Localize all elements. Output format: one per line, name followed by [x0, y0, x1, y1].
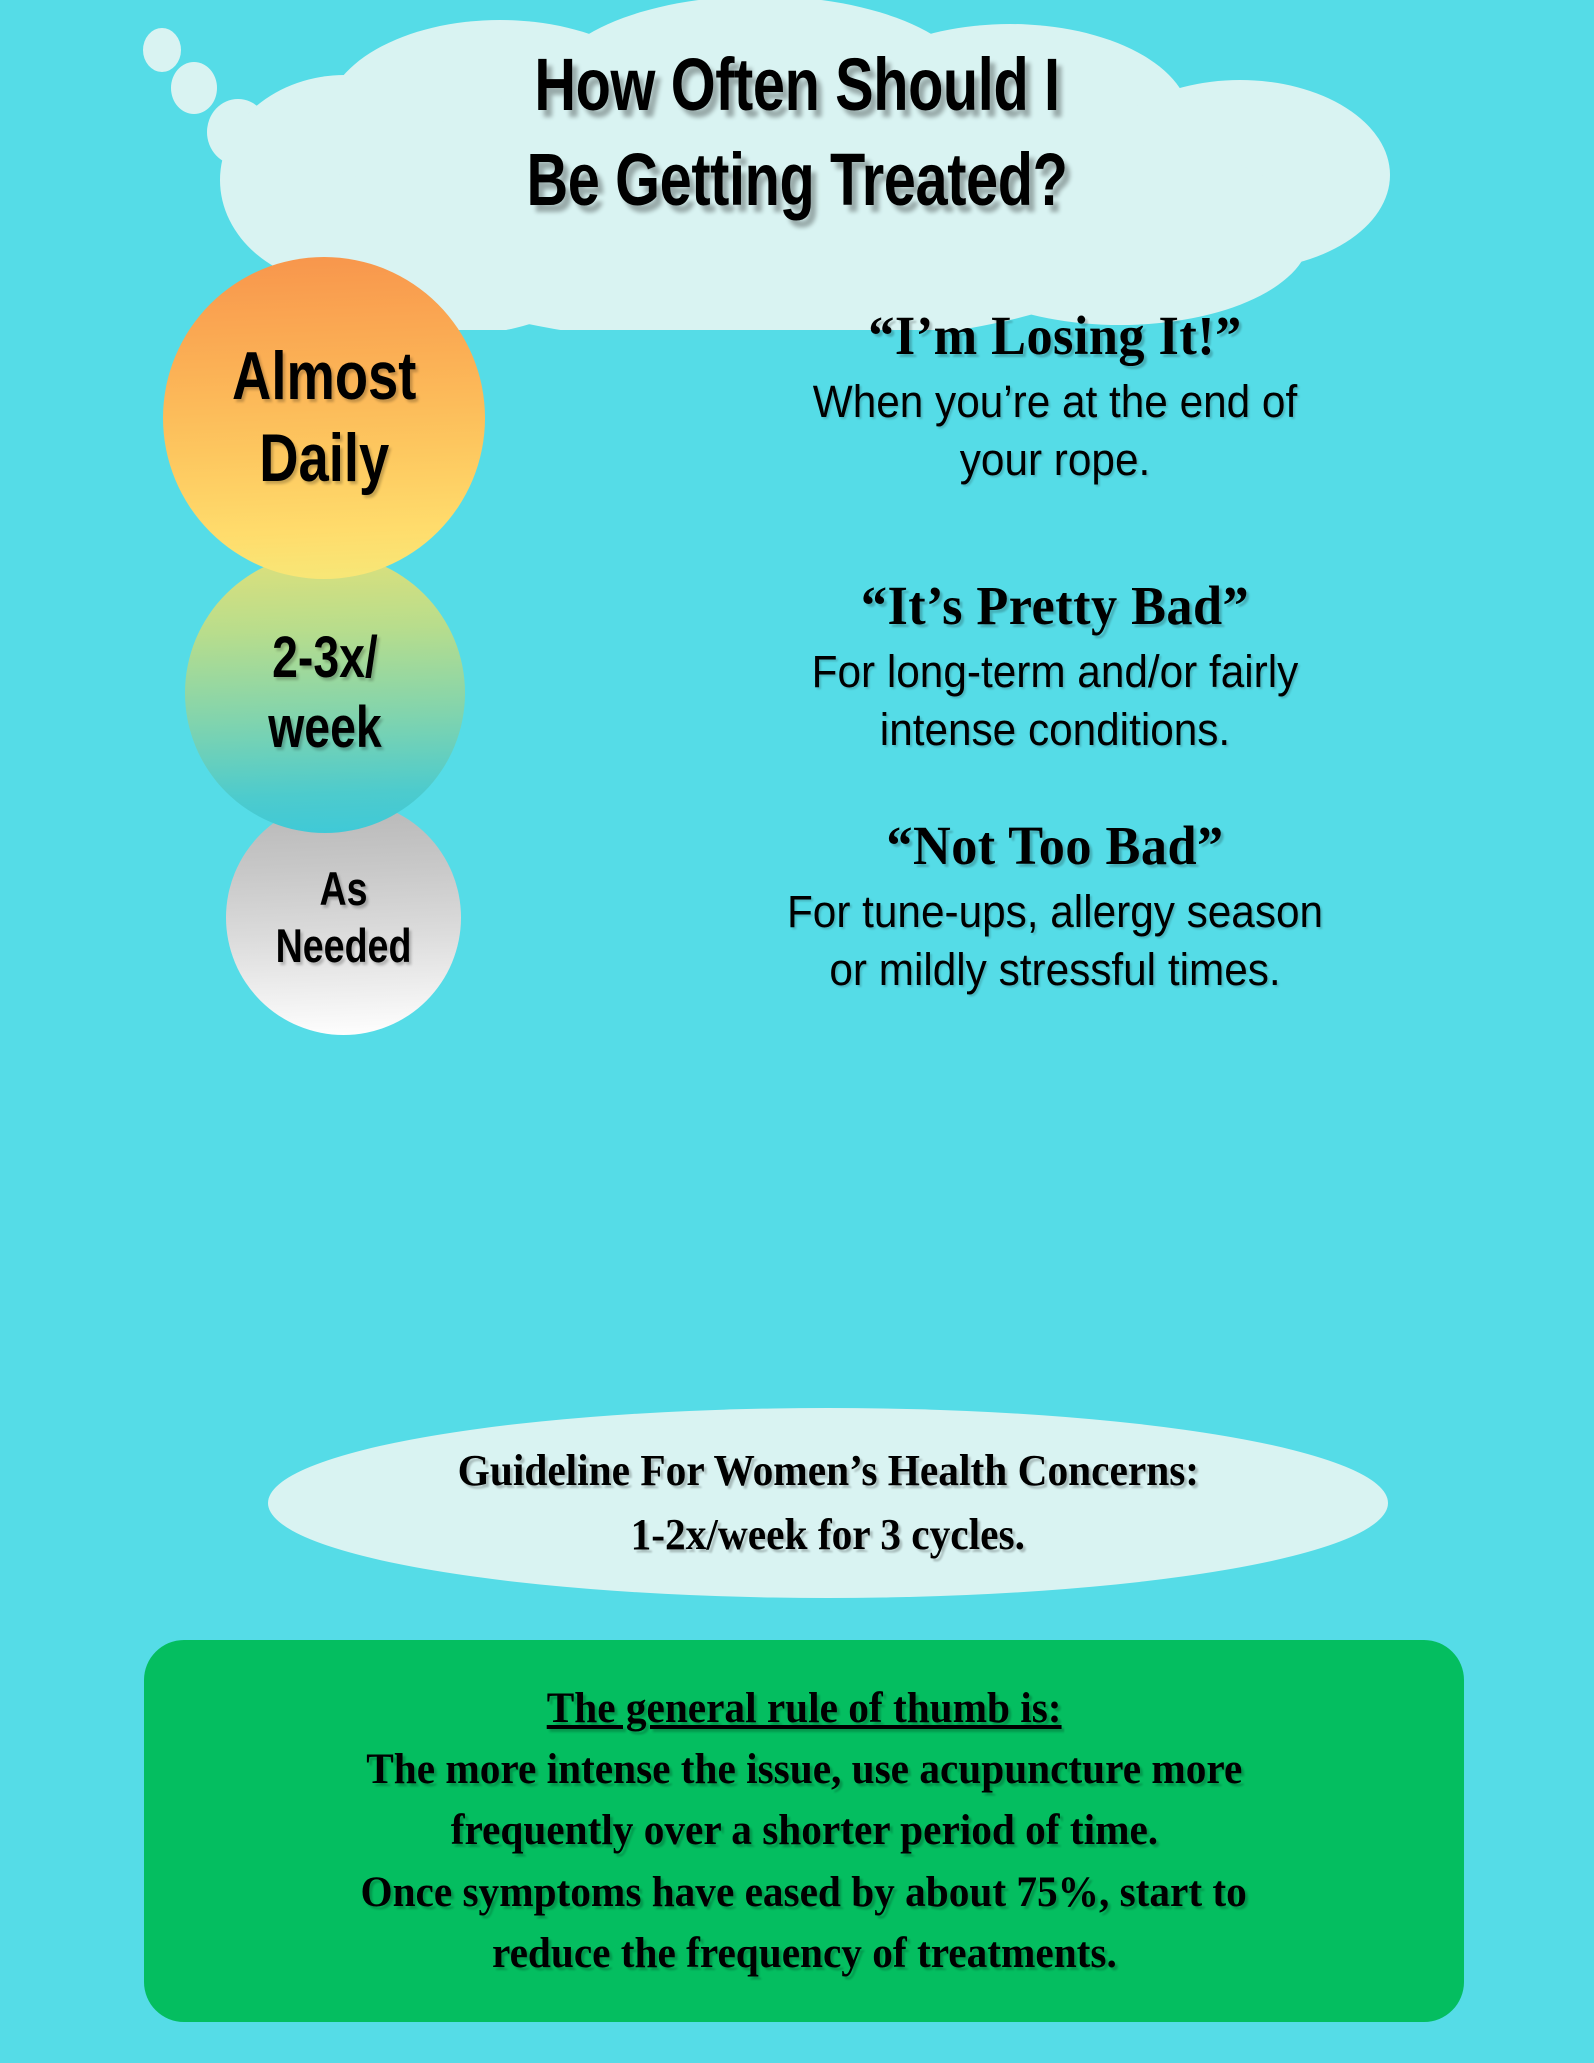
rule-of-thumb-heading: The general rule of thumb is:	[547, 1678, 1062, 1739]
frequency-description-almost-daily: “I’m Losing It!” When you’re at the end …	[520, 305, 1590, 490]
frequency-description-as-needed: “Not Too Bad” For tune-ups, allergy seas…	[520, 815, 1590, 1000]
frequency-circle-label: Almost Daily	[232, 336, 416, 499]
rule-of-thumb-line-3: Once symptoms have eased by about 75%, s…	[361, 1862, 1247, 1923]
guideline-line-2: 1-2x/week for 3 cycles.	[631, 1503, 1025, 1567]
guideline-callout: Guideline For Women’s Health Concerns: 1…	[268, 1408, 1388, 1598]
page-title-line-2: Be Getting Treated?	[175, 133, 1418, 228]
frequency-description-2-3x-week: “It’s Pretty Bad” For long-term and/or f…	[520, 575, 1590, 760]
guideline-line-1: Guideline For Women’s Health Concerns:	[457, 1439, 1198, 1503]
rule-of-thumb-line-2: frequently over a shorter period of time…	[450, 1800, 1157, 1861]
rule-of-thumb-line-1: The more intense the issue, use acupunct…	[366, 1739, 1242, 1800]
infographic-canvas: How Often Should I Be Getting Treated? A…	[0, 0, 1594, 2063]
frequency-circle-label: 2-3x/ week	[268, 623, 382, 762]
page-title-line-1: How Often Should I	[175, 38, 1418, 133]
frequency-circle-2-3x-week: 2-3x/ week	[185, 553, 465, 833]
rule-of-thumb-line-4: reduce the frequency of treatments.	[492, 1923, 1117, 1984]
frequency-heading: “It’s Pretty Bad”	[547, 575, 1564, 637]
frequency-body-line-1: For long-term and/or fairly	[552, 643, 1558, 702]
frequency-body-line-2: or mildly stressful times.	[552, 941, 1558, 1000]
frequency-body-line-1: For tune-ups, allergy season	[552, 883, 1558, 942]
frequency-circle-almost-daily: Almost Daily	[163, 257, 485, 579]
page-title: How Often Should I Be Getting Treated?	[0, 38, 1594, 227]
frequency-circle-as-needed: As Needed	[226, 800, 461, 1035]
frequency-heading: “I’m Losing It!”	[547, 305, 1564, 367]
frequency-body-line-2: your rope.	[552, 431, 1558, 490]
frequency-circle-label: As Needed	[250, 861, 438, 974]
frequency-body-line-2: intense conditions.	[552, 701, 1558, 760]
frequency-heading: “Not Too Bad”	[547, 815, 1564, 877]
frequency-body-line-1: When you’re at the end of	[552, 373, 1558, 432]
rule-of-thumb-panel: The general rule of thumb is: The more i…	[144, 1640, 1464, 2022]
